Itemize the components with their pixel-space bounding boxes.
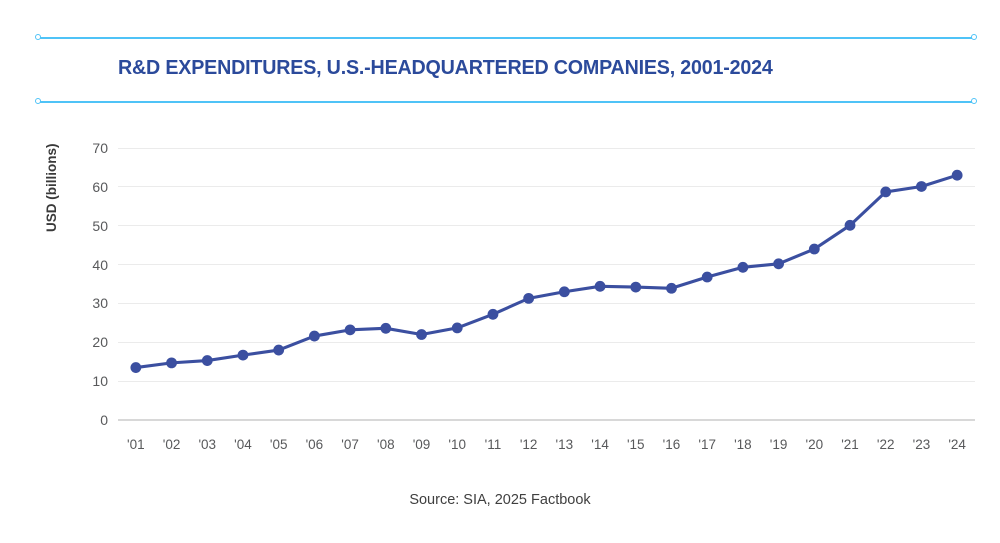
data-point-marker — [916, 181, 927, 192]
chart-plot-area: USD (billions) 010203040506070 '01'02'03… — [0, 0, 1000, 543]
data-point-marker — [845, 220, 856, 231]
data-point-marker — [488, 309, 499, 320]
data-point-marker — [595, 281, 606, 292]
data-point-marker — [380, 323, 391, 334]
data-point-marker — [452, 323, 463, 334]
series-line — [136, 175, 957, 367]
data-point-marker — [416, 329, 427, 340]
data-point-marker — [202, 355, 213, 366]
data-point-marker — [309, 331, 320, 342]
data-point-marker — [952, 170, 963, 181]
data-point-marker — [880, 187, 891, 198]
data-point-marker — [166, 357, 177, 368]
data-point-marker — [345, 324, 356, 335]
data-series-line — [0, 0, 1000, 543]
data-point-marker — [666, 283, 677, 294]
data-point-marker — [273, 345, 284, 356]
data-point-marker — [738, 262, 749, 273]
data-point-marker — [523, 293, 534, 304]
source-note: Source: SIA, 2025 Factbook — [0, 492, 1000, 508]
data-point-marker — [773, 258, 784, 269]
chart-page: R&D EXPENDITURES, U.S.-HEADQUARTERED COM… — [0, 0, 1000, 543]
data-point-marker — [559, 286, 570, 297]
data-point-marker — [630, 282, 641, 293]
data-point-marker — [702, 272, 713, 283]
data-point-marker — [130, 362, 141, 373]
data-point-marker — [809, 244, 820, 255]
data-point-marker — [238, 350, 249, 361]
